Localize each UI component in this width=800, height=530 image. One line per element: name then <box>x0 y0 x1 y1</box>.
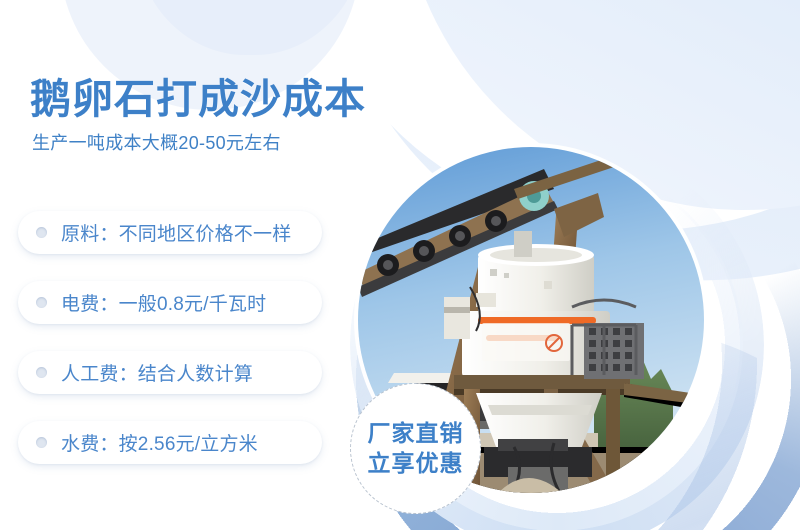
bullet-dot-icon <box>36 227 47 238</box>
list-item[interactable]: 人工费：结合人数计算 <box>18 351 322 394</box>
bullet-dot-icon <box>36 297 47 308</box>
promo-banner: 鹅卵石打成沙成本 生产一吨成本大概20-50元左右 原料：不同地区价格不一样 电… <box>0 0 800 530</box>
list-item[interactable]: 原料：不同地区价格不一样 <box>18 211 322 254</box>
list-item[interactable]: 电费：一般0.8元/千瓦时 <box>18 281 322 324</box>
headline-block: 鹅卵石打成沙成本 生产一吨成本大概20-50元左右 <box>30 78 366 155</box>
list-item-label: 水费：按2.56元/立方米 <box>61 429 258 456</box>
list-item[interactable]: 水费：按2.56元/立方米 <box>18 421 322 464</box>
page-subtitle: 生产一吨成本大概20-50元左右 <box>32 133 366 155</box>
background-blob-topleft-accent <box>135 0 365 55</box>
list-item-label: 电费：一般0.8元/千瓦时 <box>61 289 266 316</box>
promo-badge[interactable]: 厂家直销 立享优惠 <box>350 383 481 514</box>
list-item-label: 人工费：结合人数计算 <box>61 359 253 386</box>
bullet-dot-icon <box>36 367 47 378</box>
bullet-dot-icon <box>36 437 47 448</box>
page-title: 鹅卵石打成沙成本 <box>30 78 366 121</box>
list-item-label: 原料：不同地区价格不一样 <box>61 219 291 246</box>
cost-feature-list: 原料：不同地区价格不一样 电费：一般0.8元/千瓦时 人工费：结合人数计算 水费… <box>18 211 322 464</box>
promo-badge-line-1: 厂家直销 <box>368 419 464 449</box>
promo-badge-line-2: 立享优惠 <box>368 449 464 479</box>
